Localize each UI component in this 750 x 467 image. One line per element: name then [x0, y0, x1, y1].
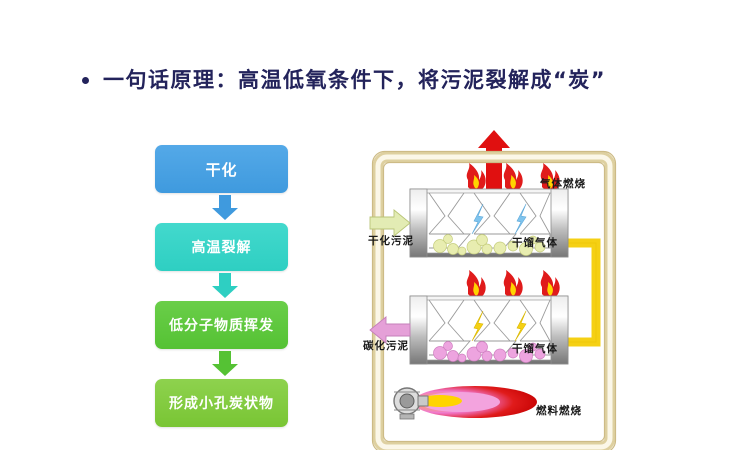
flow-step-char[interactable]: 形成小孔炭状物 [155, 379, 288, 427]
label-fuel-combustion: 燃料燃烧 [536, 403, 582, 418]
arrow-dry-to-pyrolysis [155, 193, 295, 223]
chevron-down-icon [211, 195, 239, 221]
fuel-burner [394, 386, 537, 419]
chevron-down-icon [211, 351, 239, 377]
slide-title-row: 一句话原理：高温低氧条件下，将污泥裂解成“炭” [82, 64, 606, 94]
furnace-svg [350, 130, 650, 450]
flow-step-volatile-label: 低分子物质挥发 [169, 315, 274, 335]
label-distillation-gas-upper: 干馏气体 [512, 235, 558, 250]
arrow-volatile-to-char [155, 349, 295, 379]
lower-flame-2-icon [504, 270, 523, 298]
flow-step-dry[interactable]: 干化 [155, 145, 288, 193]
flow-step-dry-label: 干化 [205, 159, 237, 180]
flow-step-pyrolysis-label: 高温裂解 [192, 237, 252, 257]
flow-step-pyrolysis[interactable]: 高温裂解 [155, 223, 288, 271]
lower-flame-1-icon [467, 270, 486, 298]
burner-fan-icon [394, 388, 428, 419]
flow-step-char-label: 形成小孔炭状物 [169, 393, 274, 413]
lower-flame-3-icon [541, 270, 560, 298]
label-gas-combustion: 气体燃烧 [540, 176, 586, 191]
label-dried-sludge-in: 干化污泥 [368, 233, 414, 248]
carbonization-furnace-diagram [350, 130, 650, 450]
slide-canvas: 一句话原理：高温低氧条件下，将污泥裂解成“炭” 干化 高温裂解 低分子物质挥发 [0, 0, 750, 467]
bullet-dot-icon [82, 77, 89, 84]
pyrolysis-stage-flow: 干化 高温裂解 低分子物质挥发 形成小孔炭状物 [155, 145, 295, 427]
upper-flame-1-icon [467, 163, 486, 191]
flow-step-volatile[interactable]: 低分子物质挥发 [155, 301, 288, 349]
page-title: 一句话原理：高温低氧条件下，将污泥裂解成“炭” [103, 64, 606, 94]
label-carbonized-sludge-out: 碳化污泥 [363, 338, 409, 353]
upper-flame-2-icon [504, 163, 523, 191]
arrow-pyrolysis-to-volatile [155, 271, 295, 301]
label-distillation-gas-lower: 干馏气体 [512, 341, 558, 356]
chevron-down-icon [211, 273, 239, 299]
